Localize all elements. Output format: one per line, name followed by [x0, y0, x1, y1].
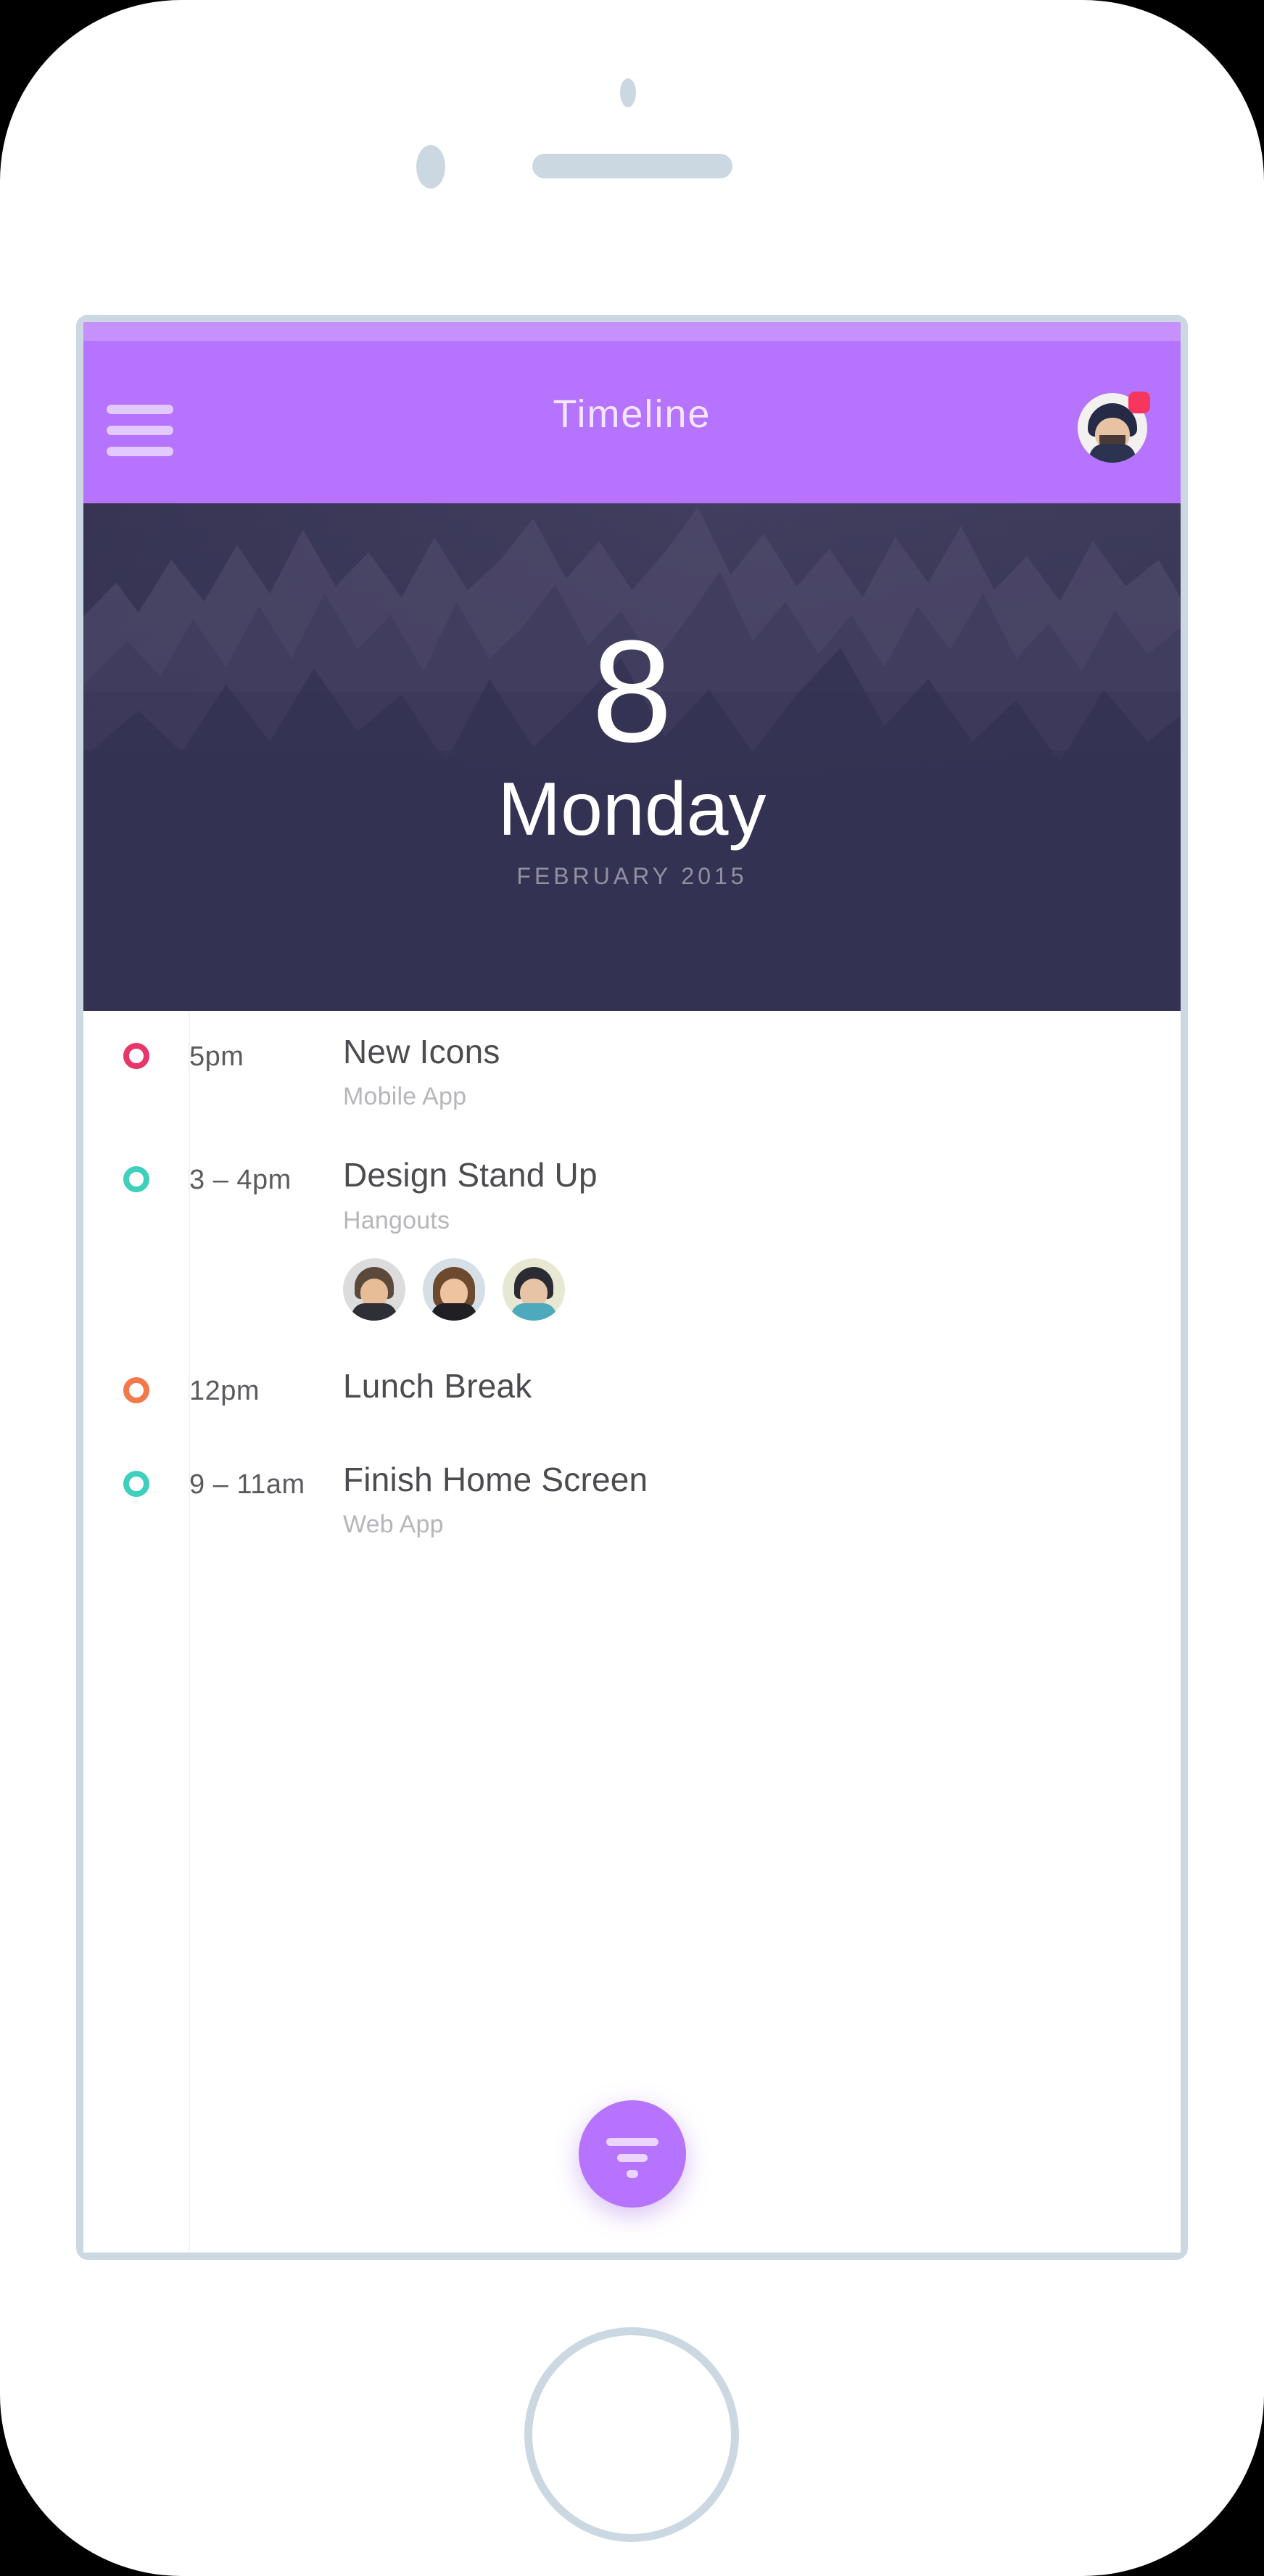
attendee-avatar-2[interactable] — [423, 1258, 485, 1321]
timeline-item[interactable]: 9 – 11am Finish Home Screen Web App — [83, 1407, 1181, 1539]
timeline-marker — [83, 1156, 189, 1192]
home-button[interactable] — [524, 2327, 739, 2542]
menu-bar-3 — [107, 447, 173, 456]
event-body: Lunch Break — [343, 1367, 1181, 1405]
earpiece-speaker-icon — [532, 154, 732, 178]
camera-dot-icon — [620, 78, 636, 107]
timeline-marker — [83, 1461, 189, 1497]
event-subtitle: Hangouts — [343, 1207, 1152, 1235]
filter-bar-3 — [627, 2170, 638, 2178]
avatar-body — [1089, 444, 1136, 463]
phone-device-frame: Timeline 8 — [0, 0, 1264, 2576]
timeline-item[interactable]: 3 – 4pm Design Stand Up Hangouts — [83, 1111, 1181, 1320]
timeline-list: 5pm New Icons Mobile App 3 – 4pm Design … — [83, 1011, 1181, 2253]
app-screen: Timeline 8 — [83, 322, 1181, 2253]
event-body: Finish Home Screen Web App — [343, 1461, 1181, 1539]
filter-bar-2 — [617, 2154, 648, 2162]
attendee-avatar-3[interactable] — [503, 1258, 565, 1321]
avatar-body — [511, 1303, 556, 1321]
filter-icon[interactable] — [579, 2100, 686, 2208]
event-time: 9 – 11am — [189, 1461, 343, 1500]
event-title: New Icons — [343, 1033, 1152, 1071]
event-subtitle: Web App — [343, 1511, 1152, 1539]
event-attendees — [343, 1258, 1152, 1321]
date-weekday: Monday — [498, 772, 767, 847]
notification-badge[interactable] — [1128, 392, 1150, 413]
user-avatar[interactable] — [1078, 393, 1147, 463]
avatar-body — [352, 1303, 397, 1321]
event-ring-icon — [123, 1377, 149, 1403]
event-time: 12pm — [189, 1367, 343, 1407]
filter-bar-1 — [606, 2138, 658, 2146]
event-ring-icon — [123, 1166, 149, 1192]
event-ring-icon — [123, 1471, 149, 1497]
attendee-avatar-1[interactable] — [343, 1258, 405, 1321]
proximity-sensor-icon — [416, 145, 445, 189]
event-title: Design Stand Up — [343, 1156, 1152, 1194]
date-hero-banner: 8 Monday FEBRUARY 2015 — [83, 503, 1181, 1011]
page-title: Timeline — [83, 392, 1181, 437]
timeline-marker — [83, 1367, 189, 1403]
event-time: 3 – 4pm — [189, 1156, 343, 1196]
timeline-item[interactable]: 12pm Lunch Break — [83, 1321, 1181, 1407]
event-body: New Icons Mobile App — [343, 1033, 1181, 1111]
date-day-number: 8 — [592, 625, 672, 759]
timeline-item[interactable]: 5pm New Icons Mobile App — [83, 1011, 1181, 1111]
hero-content: 8 Monday FEBRUARY 2015 — [83, 503, 1181, 1011]
date-month-year: FEBRUARY 2015 — [516, 863, 747, 890]
avatar-body — [431, 1303, 476, 1321]
event-body: Design Stand Up Hangouts — [343, 1156, 1181, 1320]
event-time: 5pm — [189, 1033, 343, 1073]
event-ring-icon — [123, 1043, 149, 1069]
timeline-marker — [83, 1033, 189, 1069]
event-title: Finish Home Screen — [343, 1461, 1152, 1499]
app-header: Timeline — [83, 322, 1181, 503]
event-title: Lunch Break — [343, 1367, 1152, 1405]
status-bar — [83, 322, 1181, 341]
event-subtitle: Mobile App — [343, 1083, 1152, 1111]
phone-screen-bezel: Timeline 8 — [76, 315, 1188, 2260]
